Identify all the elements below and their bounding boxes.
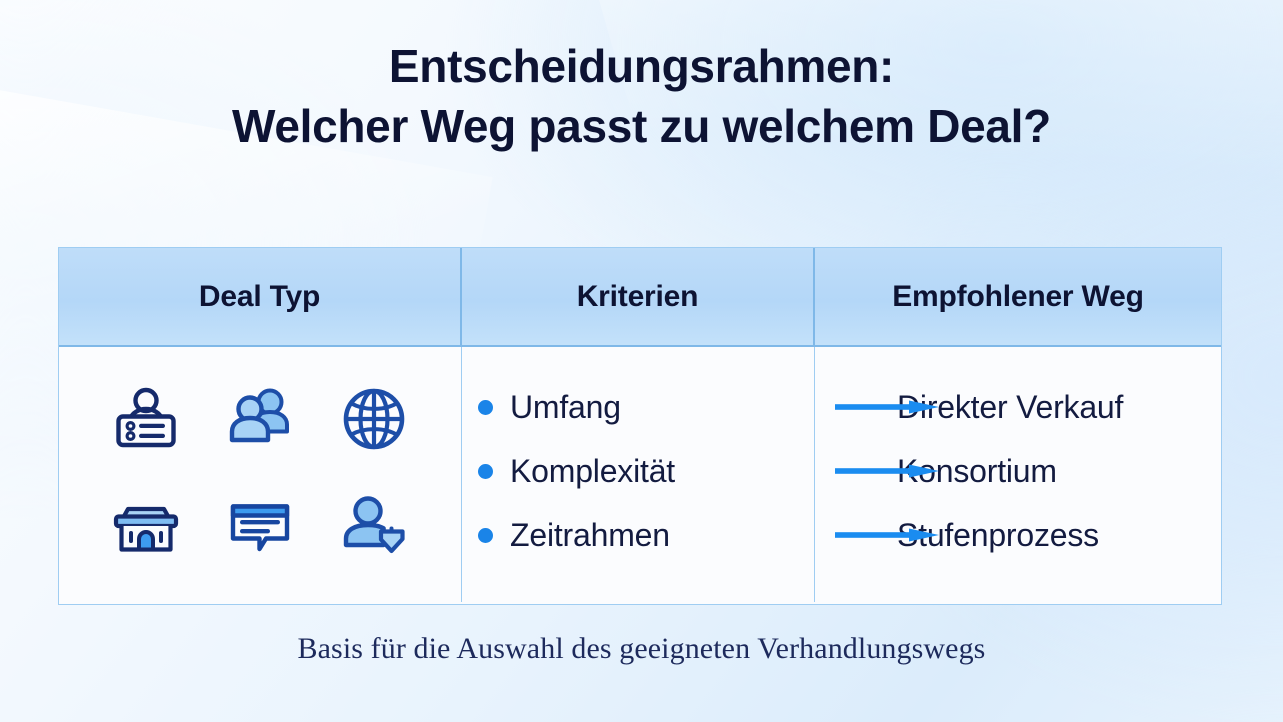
list-item: Komplexität [478, 439, 675, 503]
title-line-1: Entscheidungsrahmen: [0, 36, 1283, 96]
deal-type-icon-grid [59, 347, 461, 602]
list-item: Umfang [478, 375, 675, 439]
list-item: Konsortium [897, 439, 1123, 503]
column-header-deal-type: Deal Typ [59, 248, 462, 345]
recommended-path-list: Direkter Verkauf Konsortium Stufenprozes… [897, 375, 1123, 567]
cell-deal-types [59, 347, 462, 602]
criteria-list: Umfang Komplexität Zeitrahmen [478, 375, 675, 567]
id-badge-icon [109, 382, 183, 456]
path-label-konsortium: Konsortium [897, 453, 1057, 490]
list-item: Zeitrahmen [478, 503, 675, 567]
title-line-2: Welcher Weg passt zu welchem Deal? [0, 96, 1283, 156]
path-label-stufenprozess: Stufenprozess [897, 517, 1099, 554]
globe-icon [337, 382, 411, 456]
criteria-label-komplexitaet: Komplexität [510, 453, 675, 490]
bullet-icon [478, 464, 493, 479]
bullet-icon [478, 528, 493, 543]
cell-recommended-paths: Direkter Verkauf Konsortium Stufenprozes… [815, 347, 1221, 602]
page-title: Entscheidungsrahmen: Welcher Weg passt z… [0, 36, 1283, 156]
criteria-label-zeitrahmen: Zeitrahmen [510, 517, 670, 554]
list-item: Direkter Verkauf [897, 375, 1123, 439]
decision-framework-table: Deal Typ Kriterien Empfohlener Weg [58, 247, 1222, 605]
footer-caption: Basis für die Auswahl des geeigneten Ver… [0, 632, 1283, 666]
column-header-recommended-path: Empfohlener Weg [815, 248, 1221, 345]
slide-canvas: Entscheidungsrahmen: Welcher Weg passt z… [0, 0, 1283, 722]
table-header-row: Deal Typ Kriterien Empfohlener Weg [59, 248, 1221, 347]
list-item: Stufenprozess [897, 503, 1123, 567]
storefront-icon [109, 489, 183, 563]
bullet-icon [478, 400, 493, 415]
table-body-row: Umfang Komplexität Zeitrahmen Di [59, 347, 1221, 602]
column-header-criteria: Kriterien [462, 248, 815, 345]
criteria-label-umfang: Umfang [510, 389, 621, 426]
person-download-icon [337, 489, 411, 563]
cell-criteria: Umfang Komplexität Zeitrahmen [462, 347, 815, 602]
chat-bubble-icon [223, 489, 297, 563]
two-people-icon [223, 382, 297, 456]
path-label-direkter-verkauf: Direkter Verkauf [897, 389, 1123, 426]
